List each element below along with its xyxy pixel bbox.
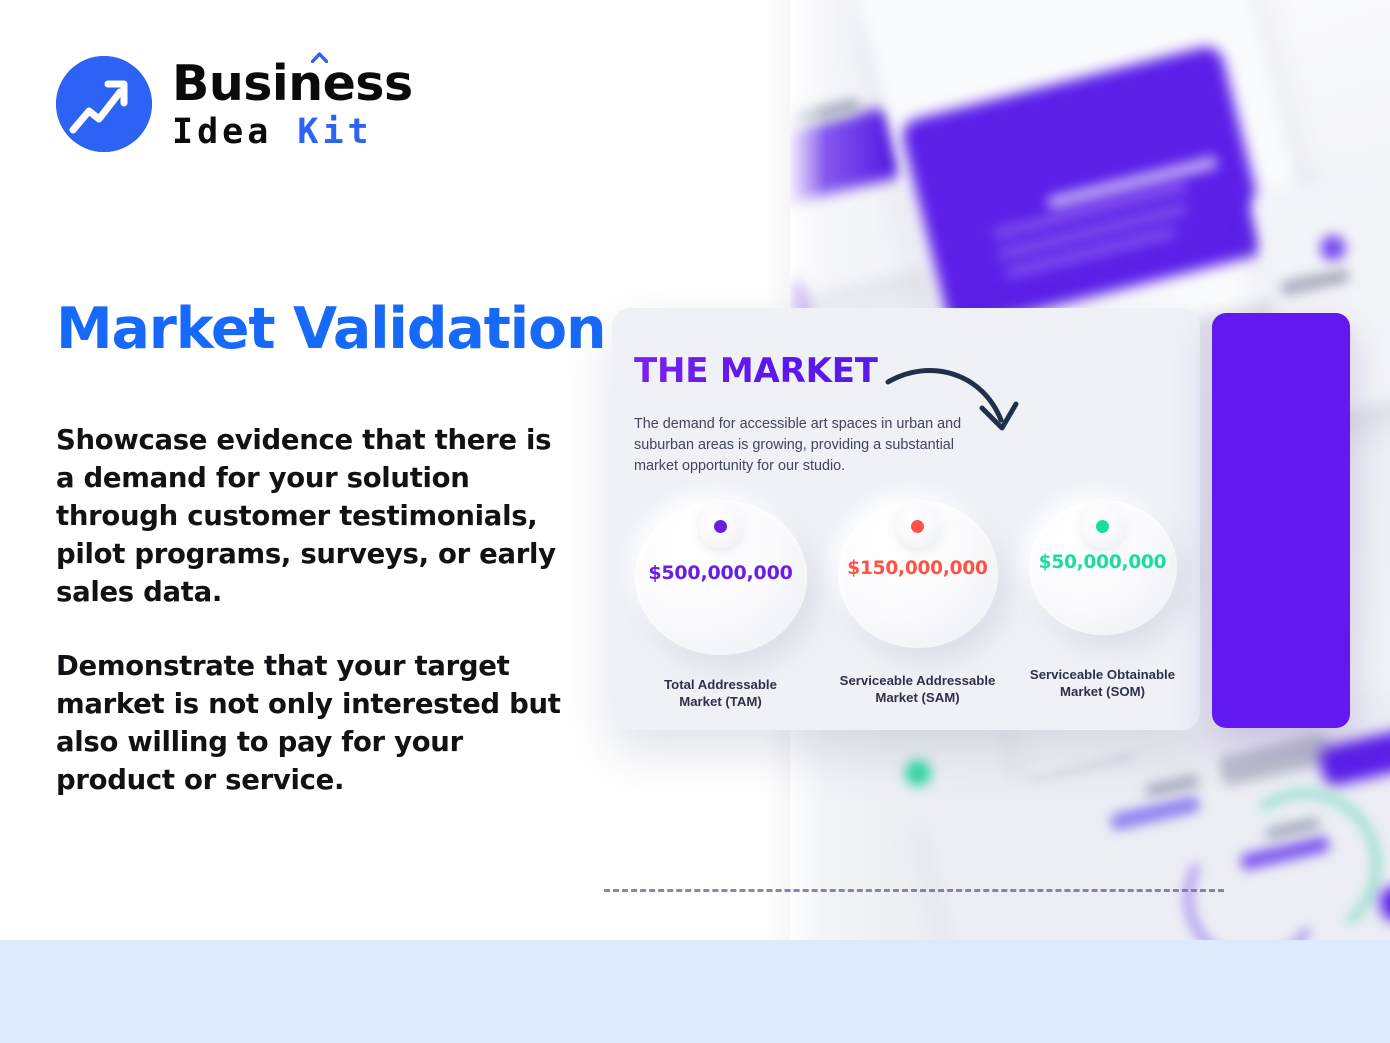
bg-line-b3 <box>997 203 1189 261</box>
market-metrics-group: $500,000,000 Total AddressableMarket (TA… <box>612 500 1200 715</box>
brand-name-bottom: Idea Kit <box>172 115 413 150</box>
bg-gray-bar-d <box>1029 757 1142 808</box>
metric-som: $50,000,000 Serviceable ObtainableMarket… <box>1010 500 1195 635</box>
bg-dot-d <box>905 760 931 786</box>
metric-label-line1: Serviceable Addressable <box>840 673 996 688</box>
metric-bubble: $500,000,000 <box>635 500 807 655</box>
bg-line-b4 <box>1004 226 1176 279</box>
status-dot-icon <box>699 504 743 548</box>
metric-amount: $50,000,000 <box>1029 552 1177 573</box>
brand-name-top: Business <box>172 59 413 108</box>
metric-amount: $500,000,000 <box>635 562 807 584</box>
purple-accent-panel <box>1212 313 1350 728</box>
bg-gray-bar-e2 <box>1144 774 1200 798</box>
metric-bubble: $150,000,000 <box>838 500 998 648</box>
bottom-band <box>0 940 1390 1043</box>
slide-canvas: Business Idea Kit Market Validation Show… <box>0 0 1390 1043</box>
bg-gray-bar-c <box>1279 268 1350 296</box>
bg-line-b1 <box>1046 155 1219 210</box>
status-dot-icon <box>1081 504 1125 548</box>
metric-label-line2: Market (SOM) <box>1060 684 1145 699</box>
bg-purple-bar-e3 <box>1239 835 1330 871</box>
brand-name-top-text: Business <box>172 55 413 112</box>
bg-slide-a <box>790 0 1042 331</box>
metric-label: Total AddressableMarket (TAM) <box>628 676 813 710</box>
metric-label-line1: Total Addressable <box>664 677 777 692</box>
metric-tam: $500,000,000 Total AddressableMarket (TA… <box>628 500 813 655</box>
brand-name-kit: Kit <box>297 112 372 152</box>
status-dot-icon <box>896 504 940 548</box>
market-card-title: THE MARKET <box>634 351 878 391</box>
bg-line-b2 <box>992 181 1189 240</box>
bg-purple-card-problem <box>899 43 1271 331</box>
metric-label: Serviceable ObtainableMarket (SOM) <box>1010 666 1195 700</box>
brand-name-idea: Idea <box>172 112 272 152</box>
metric-bubble: $50,000,000 <box>1029 500 1177 635</box>
bg-gray-bar-a <box>790 97 861 131</box>
page-title: Market Validation <box>56 296 676 362</box>
bg-purple-bar-a <box>790 106 904 246</box>
bg-gray-bar-e5 <box>1218 733 1332 787</box>
market-card-description: The demand for accessible art spaces in … <box>634 414 984 477</box>
bg-ring-green <box>1220 780 1389 940</box>
metric-amount: $150,000,000 <box>838 558 998 579</box>
bg-purple-bar-e <box>1317 722 1390 788</box>
metric-label-line1: Serviceable Obtainable <box>1030 667 1175 682</box>
metric-sam: $150,000,000 Serviceable AddressableMark… <box>825 500 1010 648</box>
brand-logo: Business Idea Kit <box>56 56 413 152</box>
metric-connector-line <box>604 889 1224 892</box>
metric-label-line2: Market (SAM) <box>875 690 959 705</box>
bg-gray-bar-e4 <box>1264 817 1320 841</box>
metric-label: Serviceable AddressableMarket (SAM) <box>825 672 1010 706</box>
brand-wordmark: Business Idea Kit <box>172 59 413 150</box>
trending-up-arrow-icon <box>56 56 152 152</box>
hero-paragraph-2: Demonstrate that your target market is n… <box>56 647 566 799</box>
bg-arc-top <box>885 5 1020 140</box>
chevron-accent-icon <box>311 52 328 63</box>
market-card: THE MARKET The demand for accessible art… <box>612 308 1200 730</box>
hero-paragraph-1: Showcase evidence that there is a demand… <box>56 421 566 611</box>
bg-purple-bar-e2 <box>1377 870 1390 923</box>
bg-purple-bar-e1 <box>1109 795 1200 831</box>
bg-ring-purple <box>1170 815 1335 940</box>
bg-dot-c <box>1320 235 1346 261</box>
metric-label-line2: Market (TAM) <box>679 694 762 709</box>
